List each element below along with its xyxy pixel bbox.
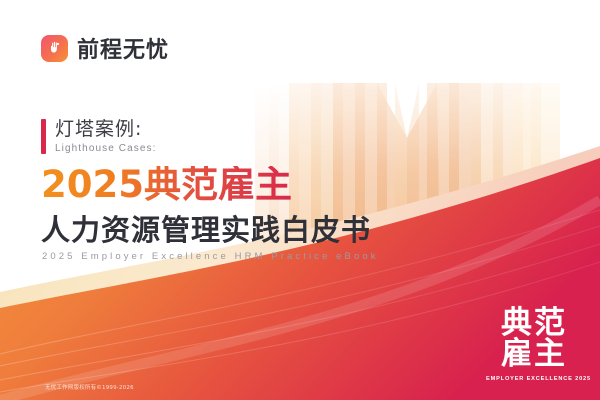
badge-chinese-line1: 典范 bbox=[486, 308, 582, 340]
kicker-accent-bar bbox=[41, 119, 46, 154]
brand-logo[interactable]: 前程无忧 bbox=[41, 32, 169, 64]
kicker-chinese: 灯塔案例: bbox=[55, 119, 157, 141]
copyright-text: 无忧工作网版权所有©1999-2026 bbox=[45, 383, 134, 391]
employer-excellence-badge: 典范 雇主 EMPLOYER EXCELLENCE 2025 bbox=[486, 308, 582, 382]
cover-headline: 2025典范雇主 bbox=[41, 166, 292, 203]
51job-hand-icon bbox=[41, 35, 68, 62]
ebook-cover: 前程无忧 灯塔案例: Lighthouse Cases: 2025典范雇主 人力… bbox=[0, 0, 600, 400]
kicker-text: 灯塔案例: Lighthouse Cases: bbox=[55, 119, 157, 154]
cover-subtitle-chinese: 人力资源管理实践白皮书 bbox=[41, 214, 371, 247]
badge-chinese-line2: 雇主 bbox=[486, 339, 582, 371]
badge-english: EMPLOYER EXCELLENCE 2025 bbox=[486, 376, 582, 382]
hand-glyph bbox=[47, 40, 63, 56]
badge-chinese: 典范 雇主 bbox=[486, 308, 582, 371]
kicker-block: 灯塔案例: Lighthouse Cases: bbox=[41, 119, 157, 154]
cover-subtitle-english: 2025 Employer Excellence HRM Practice eB… bbox=[42, 251, 379, 262]
kicker-english: Lighthouse Cases: bbox=[55, 143, 157, 154]
brand-logo-text: 前程无忧 bbox=[77, 32, 169, 64]
